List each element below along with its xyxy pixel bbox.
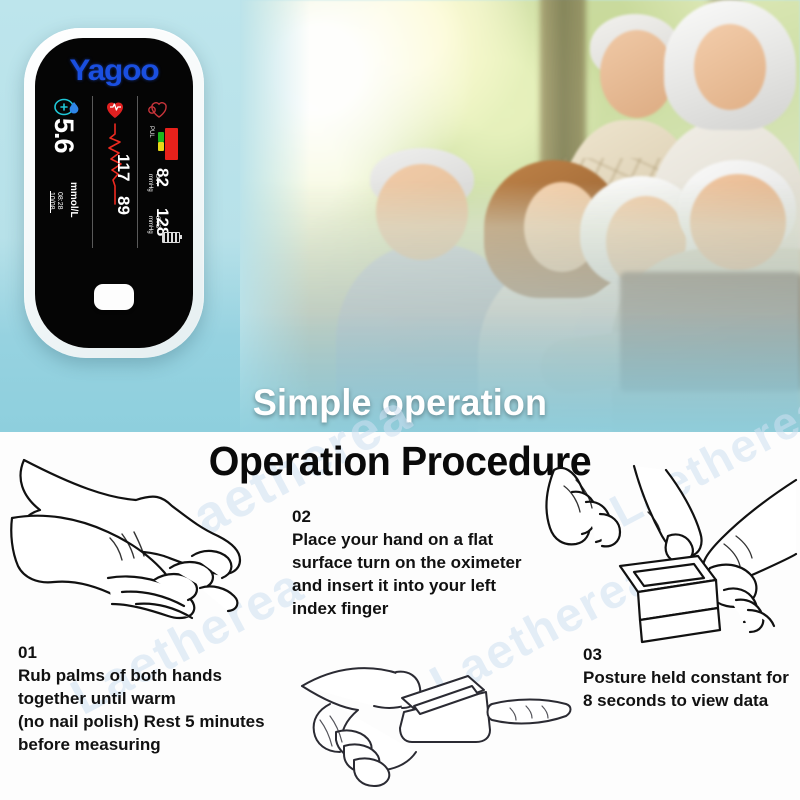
glucose-unit: mmol/L xyxy=(68,182,79,218)
device-face: Yagoo 5.6 mmol/L 08:28 10/08 xyxy=(35,38,193,348)
device-brand-logo: Yagoo xyxy=(35,54,193,88)
step-02-number: 02 xyxy=(292,506,542,528)
procedure-section: Laetherea Laetherea Laetherea Laetherea … xyxy=(0,432,800,800)
ecg-secondary-value: 117 xyxy=(113,154,133,181)
dia-label: DIA xyxy=(154,174,160,184)
heart-icon xyxy=(103,97,127,121)
blood-pressure-cuff-icon xyxy=(146,98,172,120)
ecg-pulse-value: 89 xyxy=(113,196,133,215)
infographic-page: Yagoo 5.6 mmol/L 08:28 10/08 xyxy=(0,0,800,800)
ecg-panel: 89 117 xyxy=(92,96,137,248)
hero-caption: Simple operation xyxy=(12,382,788,424)
finger-insert-oximeter-illustration xyxy=(528,462,798,652)
glucose-panel: 5.6 mmol/L 08:28 10/08 xyxy=(49,96,92,248)
device-screen: 5.6 mmol/L 08:28 10/08 xyxy=(49,96,179,248)
oximeter-device: Yagoo 5.6 mmol/L 08:28 10/08 xyxy=(24,28,204,358)
step-01-number: 01 xyxy=(18,642,283,664)
blood-pressure-panel: PUL 82 DIA mmHg 128 SYS mmHg xyxy=(138,96,179,248)
pul-label: PUL xyxy=(148,126,154,138)
glucose-drop-icon xyxy=(53,98,83,120)
pul-bar-green xyxy=(158,132,164,142)
device-power-button[interactable] xyxy=(94,284,134,310)
step-02-line-1: Place your hand on a flat xyxy=(292,528,542,551)
sys-label: SYS xyxy=(154,216,160,228)
hero-section: Yagoo 5.6 mmol/L 08:28 10/08 xyxy=(0,0,800,432)
step-03-number: 03 xyxy=(583,644,798,666)
step-03-line-1: Posture held constant for xyxy=(583,666,798,689)
glucose-value: 5.6 xyxy=(48,118,79,153)
step-01-line-3: (no nail polish) Rest 5 minutes xyxy=(18,710,283,733)
step-02-line-2: surface turn on the oximeter xyxy=(292,551,542,574)
step-01: 01 Rub palms of both hands together unti… xyxy=(18,642,283,756)
hand-hold-steady-illustration xyxy=(296,646,576,796)
step-03-line-2: 8 seconds to view data xyxy=(583,689,798,712)
pul-bar-red xyxy=(165,128,178,160)
step-01-line-4: before measuring xyxy=(18,733,283,756)
glucose-date: 10/08 xyxy=(48,192,55,210)
step-02-line-3: and insert it into your left xyxy=(292,574,542,597)
glucose-time: 08:28 xyxy=(56,192,63,210)
step-03: 03 Posture held constant for 8 seconds t… xyxy=(583,644,798,712)
step-01-line-2: together until warm xyxy=(18,687,283,710)
sys-unit: mmHg xyxy=(147,216,153,234)
dia-unit: mmHg xyxy=(147,174,153,192)
pul-bar-yellow xyxy=(158,142,164,151)
lifestyle-photo xyxy=(240,0,800,432)
hands-rubbing-illustration xyxy=(4,452,284,652)
step-02: 02 Place your hand on a flat surface tur… xyxy=(292,506,542,620)
battery-icon xyxy=(162,232,180,243)
step-02-line-4: index finger xyxy=(292,597,542,620)
step-01-line-1: Rub palms of both hands xyxy=(18,664,283,687)
